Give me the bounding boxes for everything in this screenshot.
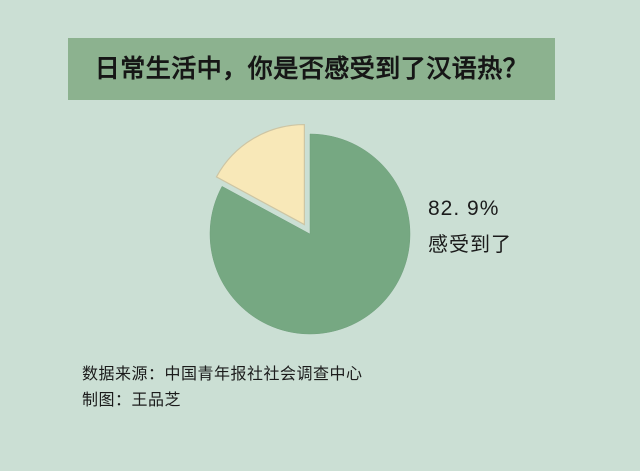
data-callout: 82. 9% 感受到了 — [428, 194, 512, 260]
footer-credit: 制图：王品芝 — [82, 388, 363, 414]
slice-category-label: 感受到了 — [428, 230, 512, 260]
footer-source: 数据来源：中国青年报社社会调查中心 — [82, 362, 363, 388]
slice-percentage-label: 82. 9% — [428, 194, 512, 224]
footer: 数据来源：中国青年报社社会调查中心 制图：王品芝 — [82, 362, 363, 414]
chart-canvas: 日常生活中，你是否感受到了汉语热？ 82. 9% 感受到了 数据来源：中国青年报… — [0, 0, 640, 471]
